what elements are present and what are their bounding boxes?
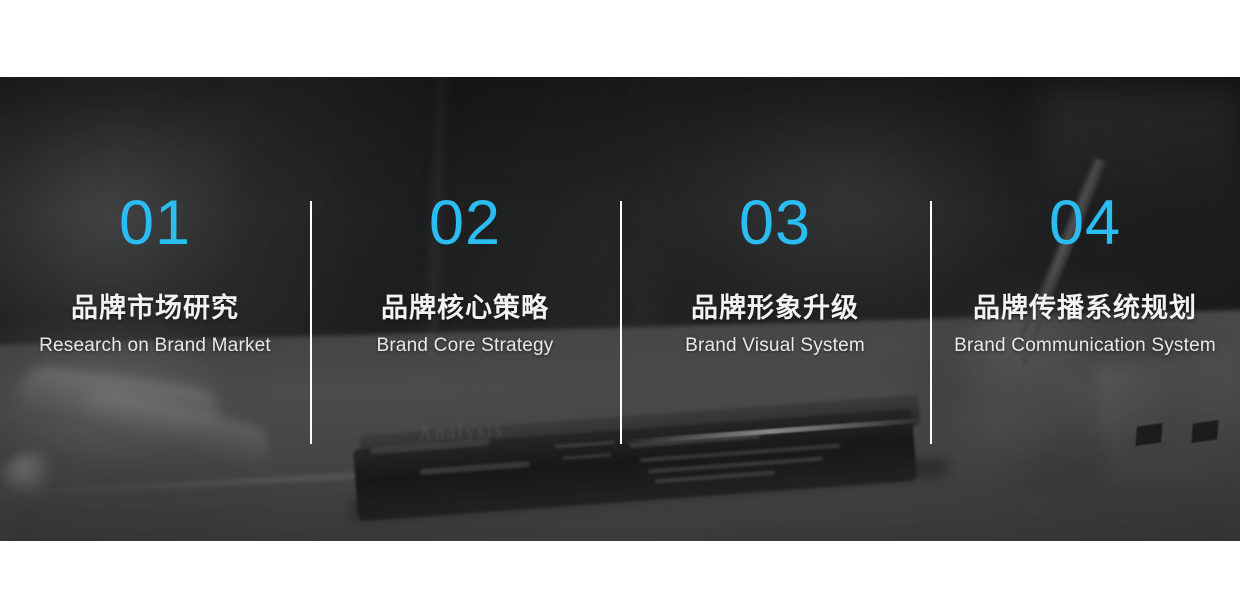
service-step-03[interactable]: 03 品牌形象升级 Brand Visual System bbox=[620, 77, 930, 541]
step-title-cn: 品牌形象升级 bbox=[691, 294, 859, 324]
brand-service-banner: Analysis 01 品牌市场研究 Research on Brand Mar… bbox=[0, 77, 1240, 541]
step-divider bbox=[620, 201, 622, 444]
step-number: 01 bbox=[119, 192, 191, 255]
step-title-cn: 品牌传播系统规划 bbox=[973, 294, 1197, 324]
service-step-list: 01 品牌市场研究 Research on Brand Market 02 品牌… bbox=[0, 77, 1240, 541]
service-step-02[interactable]: 02 品牌核心策略 Brand Core Strategy bbox=[310, 77, 620, 541]
step-number: 04 bbox=[1049, 192, 1121, 255]
step-title-en: Brand Core Strategy bbox=[377, 335, 554, 357]
step-number: 02 bbox=[429, 192, 501, 255]
step-divider bbox=[310, 201, 312, 444]
step-number: 03 bbox=[739, 192, 811, 255]
step-title-en: Research on Brand Market bbox=[39, 335, 271, 357]
step-title-cn: 品牌核心策略 bbox=[381, 294, 549, 324]
service-step-01[interactable]: 01 品牌市场研究 Research on Brand Market bbox=[0, 77, 310, 541]
step-title-en: Brand Visual System bbox=[685, 335, 865, 357]
step-title-cn: 品牌市场研究 bbox=[71, 294, 239, 324]
service-step-04[interactable]: 04 品牌传播系统规划 Brand Communication System bbox=[930, 77, 1240, 541]
step-title-en: Brand Communication System bbox=[954, 335, 1216, 357]
step-divider bbox=[930, 201, 932, 444]
